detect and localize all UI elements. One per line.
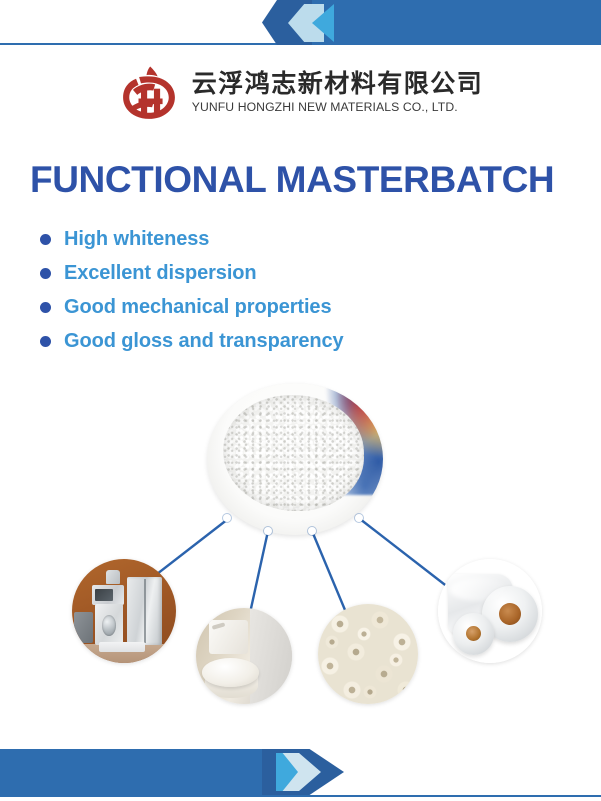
company-logo-block: 云浮鸿志新材料有限公司 YUNFU HONGZHI NEW MATERIALS … [0,62,601,124]
connector-node-2 [264,527,272,535]
connector-line-2 [250,531,268,613]
company-name-en: YUNFU HONGZHI NEW MATERIALS CO., LTD. [192,100,484,116]
refrigerator-icon [127,577,162,646]
list-item: Excellent dispersion [40,256,560,290]
washing-machine-icon [95,604,123,646]
bullet-dot-icon [40,234,51,245]
bottom-banner-bar [0,749,280,795]
feature-label: High whiteness [64,228,209,251]
appliance-bench [99,642,145,651]
page-title: FUNCTIONAL MASTERBATCH [30,160,590,201]
bullet-dot-icon [40,302,51,313]
hongzhi-logo-icon [118,64,180,122]
bullet-dot-icon [40,268,51,279]
masterbatch-dish [207,383,383,535]
film-roll-small [453,613,495,655]
top-arrow-banner [0,0,601,50]
feature-label: Good mechanical properties [64,296,331,319]
hero-product-image [207,383,383,535]
connector-node-4 [355,514,363,522]
microwave-icon [92,585,124,605]
company-name-group: 云浮鸿志新材料有限公司 YUNFU HONGZHI NEW MATERIALS … [192,70,484,117]
application-circle-film-rolls [438,559,542,663]
washer-door [102,615,117,637]
product-poster: 云浮鸿志新材料有限公司 YUNFU HONGZHI NEW MATERIALS … [0,0,601,801]
list-item: Good gloss and transparency [40,324,560,358]
toilet-seat [202,658,260,687]
top-banner-bar [295,0,601,45]
application-circle-plastic-tubes [318,604,418,704]
application-circle-home-appliances [72,559,176,663]
film-roll-core-large [499,603,521,625]
bullet-dot-icon [40,336,51,347]
company-name-cn: 云浮鸿志新材料有限公司 [192,70,484,99]
feature-list: High whiteness Excellent dispersion Good… [40,222,560,358]
connector-node-3 [308,527,316,535]
feature-label: Excellent dispersion [64,262,257,285]
connector-node-1 [223,514,231,522]
pellet-grain-overlay [223,395,364,511]
connector-line-3 [312,531,345,610]
list-item: High whiteness [40,222,560,256]
bottom-divider-rule [0,795,601,797]
film-roll-core-small [466,626,481,641]
kettle-icon [106,570,120,584]
bottom-arrow-banner [0,745,601,801]
tube-bores-layer-2 [318,604,418,704]
application-circle-sanitary-ware [196,608,292,704]
list-item: Good mechanical properties [40,290,560,324]
feature-label: Good gloss and transparency [64,330,344,353]
microwave-glass [95,589,113,601]
appliance-side-unit [74,612,93,643]
film-roll-highlight [450,578,508,601]
